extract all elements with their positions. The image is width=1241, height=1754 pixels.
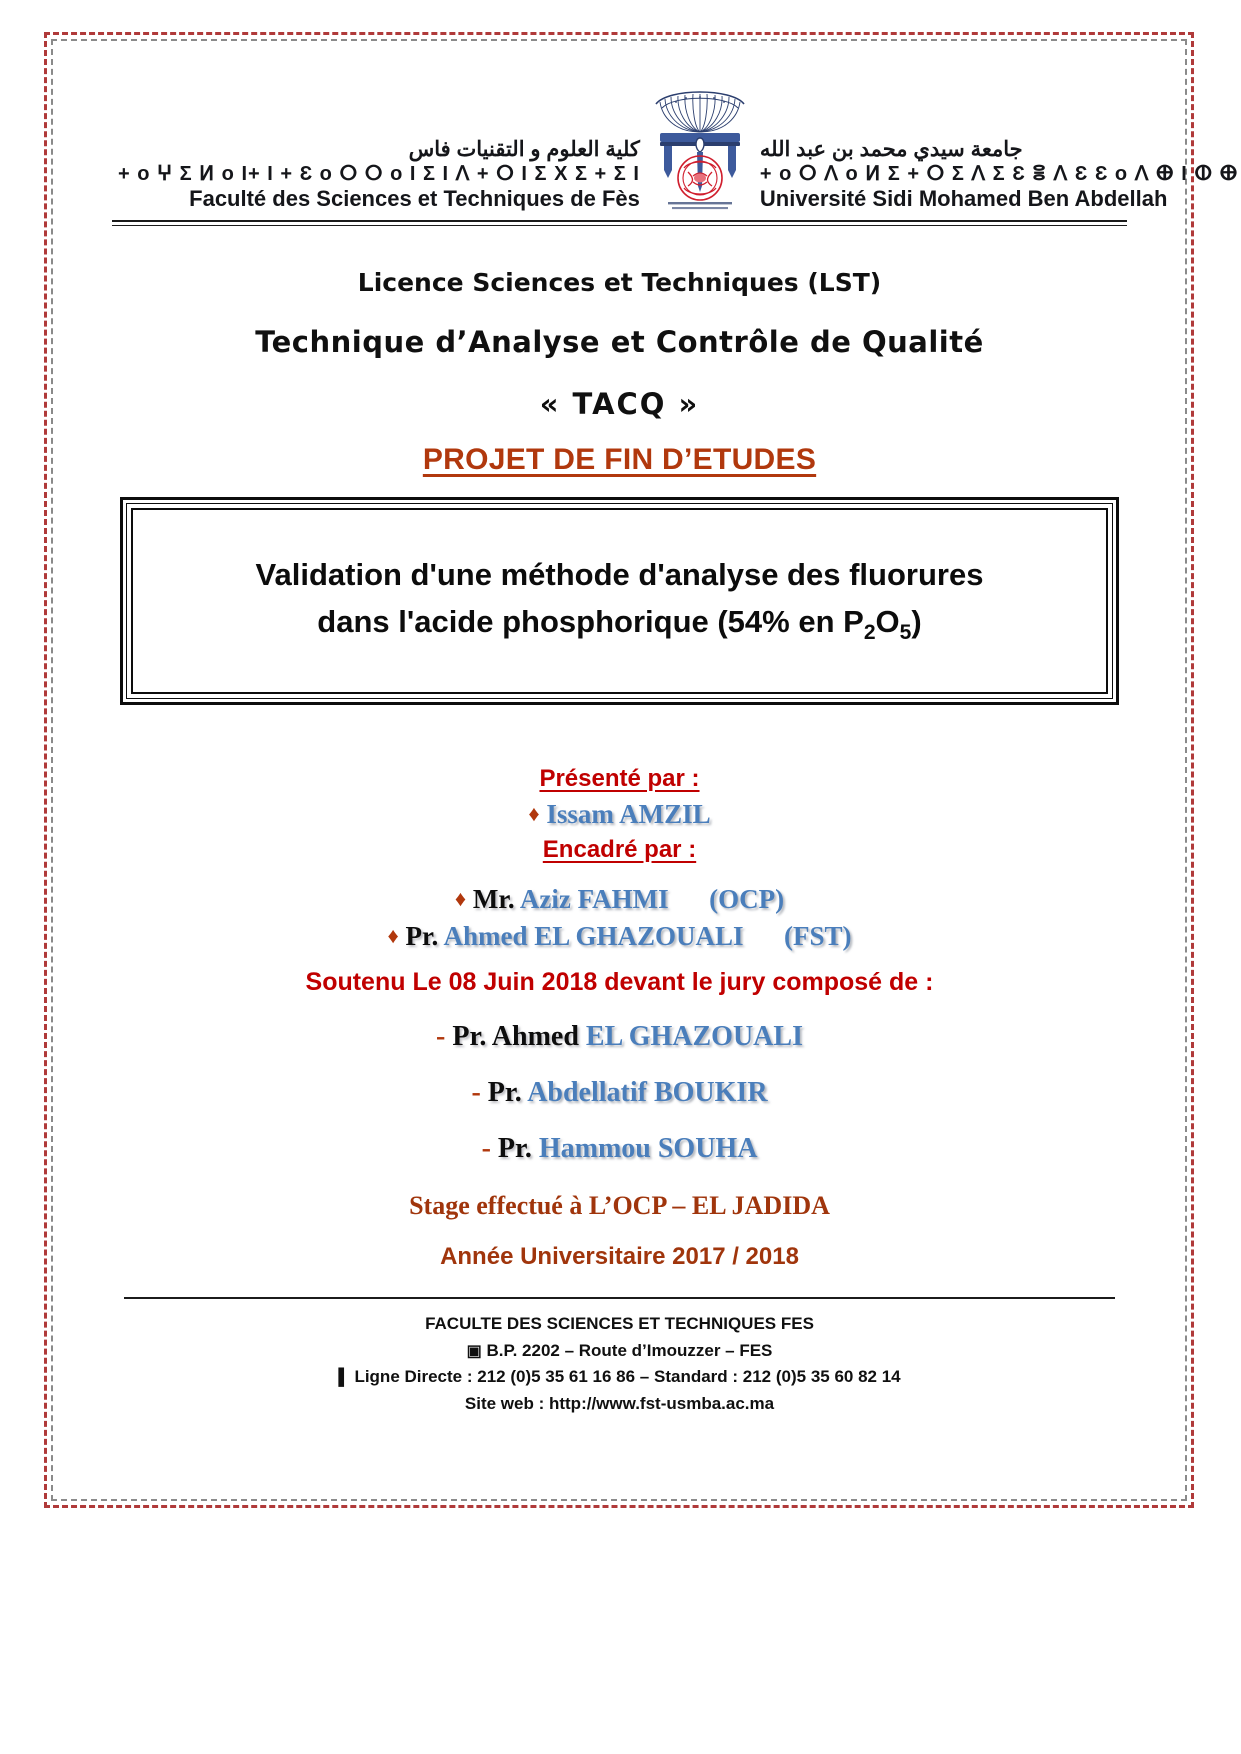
faculty-name-tifinagh: + o ⵖ Ʃ ⵍ o I+ I + Ɛ o ⵔ ⵔ o I Ʃ I ⴷ + ⵔ… [118, 163, 640, 185]
thesis-title-line-2: dans l'acide phosphorique (54% en P2O5) [161, 599, 1078, 649]
supervisor-name: Aziz FAHMI [515, 884, 669, 914]
jury-dash: - [436, 1021, 445, 1052]
envelope-icon: ▣ [467, 1343, 482, 1360]
author-line: ♦ Issam AMZIL [110, 799, 1129, 830]
jury-title: Pr. [491, 1133, 532, 1164]
jury-first-name: Ahmed [486, 1021, 579, 1052]
university-name-french: Université Sidi Mohamed Ben Abdellah [760, 187, 1241, 212]
faculty-identity-block: كلية العلوم و التقنيات فاس + o ⵖ Ʃ ⵍ o I… [118, 138, 640, 214]
project-type-heading: PROJET DE FIN D’ETUDES [110, 443, 1129, 477]
jury-last-name: BOUKIR [647, 1077, 768, 1108]
faculty-name-french: Faculté des Sciences et Techniques de Fè… [118, 187, 640, 212]
supervisor-row: ♦ Pr. Ahmed EL GHAZOUALI (FST) [110, 921, 1129, 952]
degree-acronym-line: « TACQ » [110, 387, 1129, 421]
header-divider [112, 220, 1127, 226]
thesis-title-line-1: Validation d'une méthode d'analyse des f… [161, 552, 1078, 599]
diamond-bullet-icon: ♦ [528, 801, 539, 826]
supervisor-row: ♦ Mr. Aziz FAHMI (OCP) [110, 884, 1129, 915]
academic-year-line: Année Universitaire 2017 / 2018 [110, 1243, 1129, 1271]
footer-address: B.P. 2202 – Route d’Imouzzer – FES [486, 1341, 772, 1360]
people-block: Présenté par : ♦ Issam AMZIL Encadré par… [110, 739, 1129, 1271]
contact-footer: FACULTE DES SCIENCES ET TECHNIQUES FES ▣… [110, 1311, 1129, 1417]
degree-specialty-line: Technique d’Analyse et Contrôle de Quali… [110, 325, 1129, 359]
jury-first-name: Hammou [532, 1133, 651, 1164]
thesis-title-box-middle-border: Validation d'une méthode d'analyse des f… [126, 503, 1113, 699]
supervisor-title: Mr. [466, 884, 515, 914]
university-name-arabic: جامعة سيدي محمد بن عبد الله [760, 138, 1241, 162]
footer-phone-row: ▌ Ligne Directe : 212 (0)5 35 61 16 86 –… [110, 1364, 1129, 1391]
jury-title: Pr. [481, 1077, 522, 1108]
footer-phone: Ligne Directe : 212 (0)5 35 61 16 86 – S… [354, 1367, 900, 1386]
thesis-title-sub-2: 2 [864, 621, 876, 644]
degree-program-line: Licence Sciences et Techniques (LST) [110, 268, 1129, 297]
jury-title: Pr. [445, 1021, 486, 1052]
jury-member-row: - Pr. Abdellatif BOUKIR [110, 1077, 1129, 1109]
diamond-bullet-icon: ♦ [387, 923, 398, 948]
defense-date-line: Soutenu Le 08 Juin 2018 devant le jury c… [110, 968, 1129, 997]
jury-member-row: - Pr. Hammou SOUHA [110, 1133, 1129, 1165]
institution-header: كلية العلوم و التقنيات فاس + o ⵖ Ʃ ⵍ o I… [110, 82, 1129, 214]
university-name-tifinagh: + o ⵔ ⴷ o ⵍ Ʃ + ⵔ Ʃ ⴷ Ʃ Ɛ ⴻ ⴷ Ɛ Ɛ o ⴷ ⴲ … [760, 163, 1241, 185]
cover-page-content: كلية العلوم و التقنيات فاس + o ⵖ Ʃ ⵍ o I… [62, 52, 1177, 1488]
jury-last-name: EL GHAZOUALI [579, 1021, 803, 1052]
supervisor-name: Ahmed EL GHAZOUALI [438, 921, 743, 951]
telephone-icon: ▌ [338, 1369, 349, 1386]
thesis-title-box: Validation d'une méthode d'analyse des f… [120, 497, 1119, 705]
thesis-title-sub-5: 5 [900, 621, 912, 644]
jury-dash: - [482, 1133, 491, 1164]
footer-divider [124, 1297, 1115, 1299]
spacer [110, 864, 1129, 878]
supervisor-title: Pr. [399, 921, 439, 951]
supervisor-affiliation: (OCP) [669, 884, 784, 914]
spacer [110, 739, 1129, 765]
diamond-bullet-icon: ♦ [455, 886, 466, 911]
faculty-name-arabic: كلية العلوم و التقنيات فاس [118, 138, 640, 162]
supervised-by-label: Encadré par : [110, 836, 1129, 864]
thesis-title-line-2-mid: O [876, 604, 900, 639]
supervisor-affiliation: (FST) [744, 921, 852, 951]
footer-address-row: ▣ B.P. 2202 – Route d’Imouzzer – FES [110, 1338, 1129, 1365]
jury-dash: - [471, 1077, 480, 1108]
thesis-title-line-2-text: dans l'acide phosphorique (54% en P [317, 604, 864, 639]
jury-member-row: - Pr. Ahmed EL GHAZOUALI [110, 1021, 1129, 1053]
thesis-title-box-inner: Validation d'une méthode d'analyse des f… [131, 508, 1108, 694]
jury-first-name: Abdellatif [522, 1077, 647, 1108]
footer-website[interactable]: Site web : http://www.fst-usmba.ac.ma [110, 1391, 1129, 1417]
author-name: Issam AMZIL [540, 799, 711, 829]
jury-last-name: SOUHA [651, 1133, 758, 1164]
degree-block: Licence Sciences et Techniques (LST) Tec… [110, 268, 1129, 421]
thesis-title-line-2-close: ) [911, 604, 921, 639]
usmba-crest-logo [646, 86, 754, 214]
internship-line: Stage effectué à L’OCP – EL JADIDA [110, 1191, 1129, 1221]
university-identity-block: جامعة سيدي محمد بن عبد الله + o ⵔ ⴷ o ⵍ … [760, 138, 1241, 214]
footer-faculty-name: FACULTE DES SCIENCES ET TECHNIQUES FES [110, 1311, 1129, 1337]
presented-by-label: Présenté par : [110, 765, 1129, 793]
